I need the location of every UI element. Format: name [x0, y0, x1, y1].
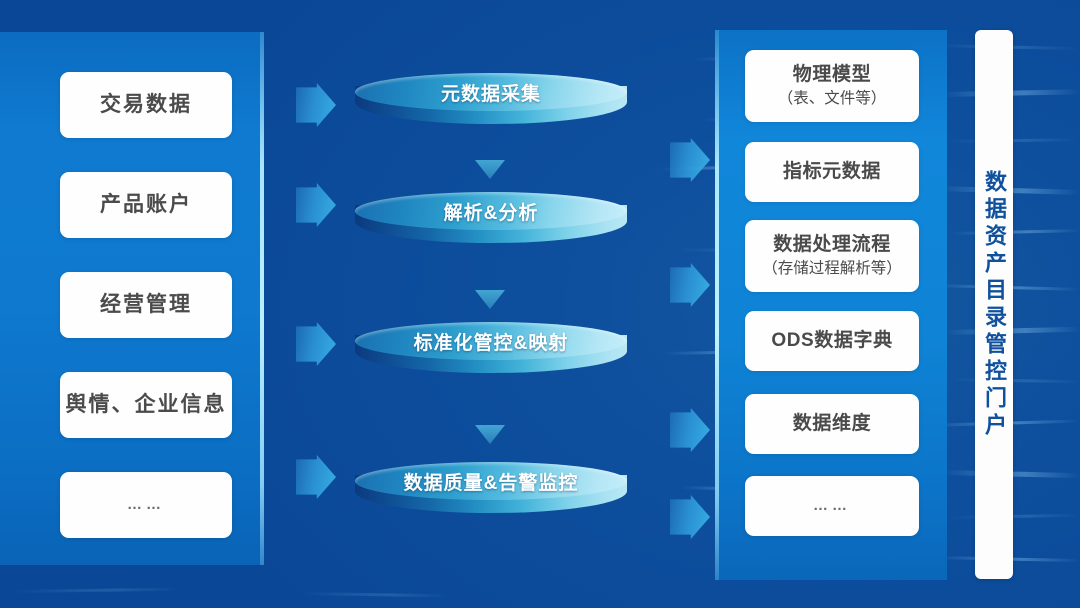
- source-card-1[interactable]: 交易数据: [60, 72, 232, 138]
- output-card-5[interactable]: 数据维度: [745, 394, 919, 454]
- output-card-2-line1: 指标元数据: [783, 160, 881, 184]
- arrow-right-icon-5: [670, 138, 710, 182]
- pipeline-stage-2[interactable]: 解析&分析: [355, 192, 627, 256]
- arrow-right-icon-8: [670, 495, 710, 539]
- arrow-right-icon-4: [296, 455, 336, 499]
- source-card-4[interactable]: 舆情、企业信息: [60, 372, 232, 438]
- pipeline-stage-4[interactable]: 数据质量&告警监控: [355, 462, 627, 526]
- source-card-1-label: 交易数据: [100, 92, 192, 119]
- source-card-3-label: 经营管理: [100, 292, 192, 319]
- arrow-right-icon-6: [670, 263, 710, 307]
- pipeline-stage-1-label: 元数据采集: [355, 75, 627, 109]
- output-card-6[interactable]: ……: [745, 476, 919, 536]
- portal-title: 数据资产目录管控门户: [983, 170, 1005, 440]
- output-card-3-line2: （存储过程解析等）: [762, 259, 902, 279]
- output-card-3-line1: 数据处理流程: [773, 233, 891, 257]
- pipeline-stage-1[interactable]: 元数据采集: [355, 73, 627, 137]
- source-card-4-label: 舆情、企业信息: [66, 392, 227, 419]
- arrow-right-icon-7: [670, 408, 710, 452]
- pipeline-stage-4-label: 数据质量&告警监控: [355, 464, 627, 498]
- output-card-1-line1: 物理模型: [793, 63, 871, 87]
- output-card-3[interactable]: 数据处理流程 （存储过程解析等）: [745, 220, 919, 292]
- output-card-1-line2: （表、文件等）: [778, 89, 887, 109]
- pipeline-stage-2-label: 解析&分析: [355, 194, 627, 228]
- source-card-2-label: 产品账户: [100, 192, 192, 219]
- source-card-3[interactable]: 经营管理: [60, 272, 232, 338]
- arrow-right-icon-3: [296, 322, 336, 366]
- pipeline-stage-3[interactable]: 标准化管控&映射: [355, 322, 627, 386]
- output-card-2[interactable]: 指标元数据: [745, 142, 919, 202]
- arrow-right-icon-2: [296, 183, 336, 227]
- output-card-4[interactable]: ODS数据字典: [745, 311, 919, 371]
- output-card-6-line1: ……: [813, 496, 851, 515]
- output-card-1[interactable]: 物理模型 （表、文件等）: [745, 50, 919, 122]
- output-card-4-line1: ODS数据字典: [771, 329, 892, 353]
- source-card-2[interactable]: 产品账户: [60, 172, 232, 238]
- output-card-5-line1: 数据维度: [793, 412, 871, 436]
- pipeline-stage-3-label: 标准化管控&映射: [355, 324, 627, 358]
- diagram-canvas: 交易数据 产品账户 经营管理 舆情、企业信息 …… 元数据采集 解析&分析 标准…: [0, 0, 1080, 608]
- portal-title-bar[interactable]: 数据资产目录管控门户: [975, 30, 1013, 579]
- arrow-right-icon-1: [296, 83, 336, 127]
- source-card-5-label: ……: [127, 495, 165, 514]
- source-card-5[interactable]: ……: [60, 472, 232, 538]
